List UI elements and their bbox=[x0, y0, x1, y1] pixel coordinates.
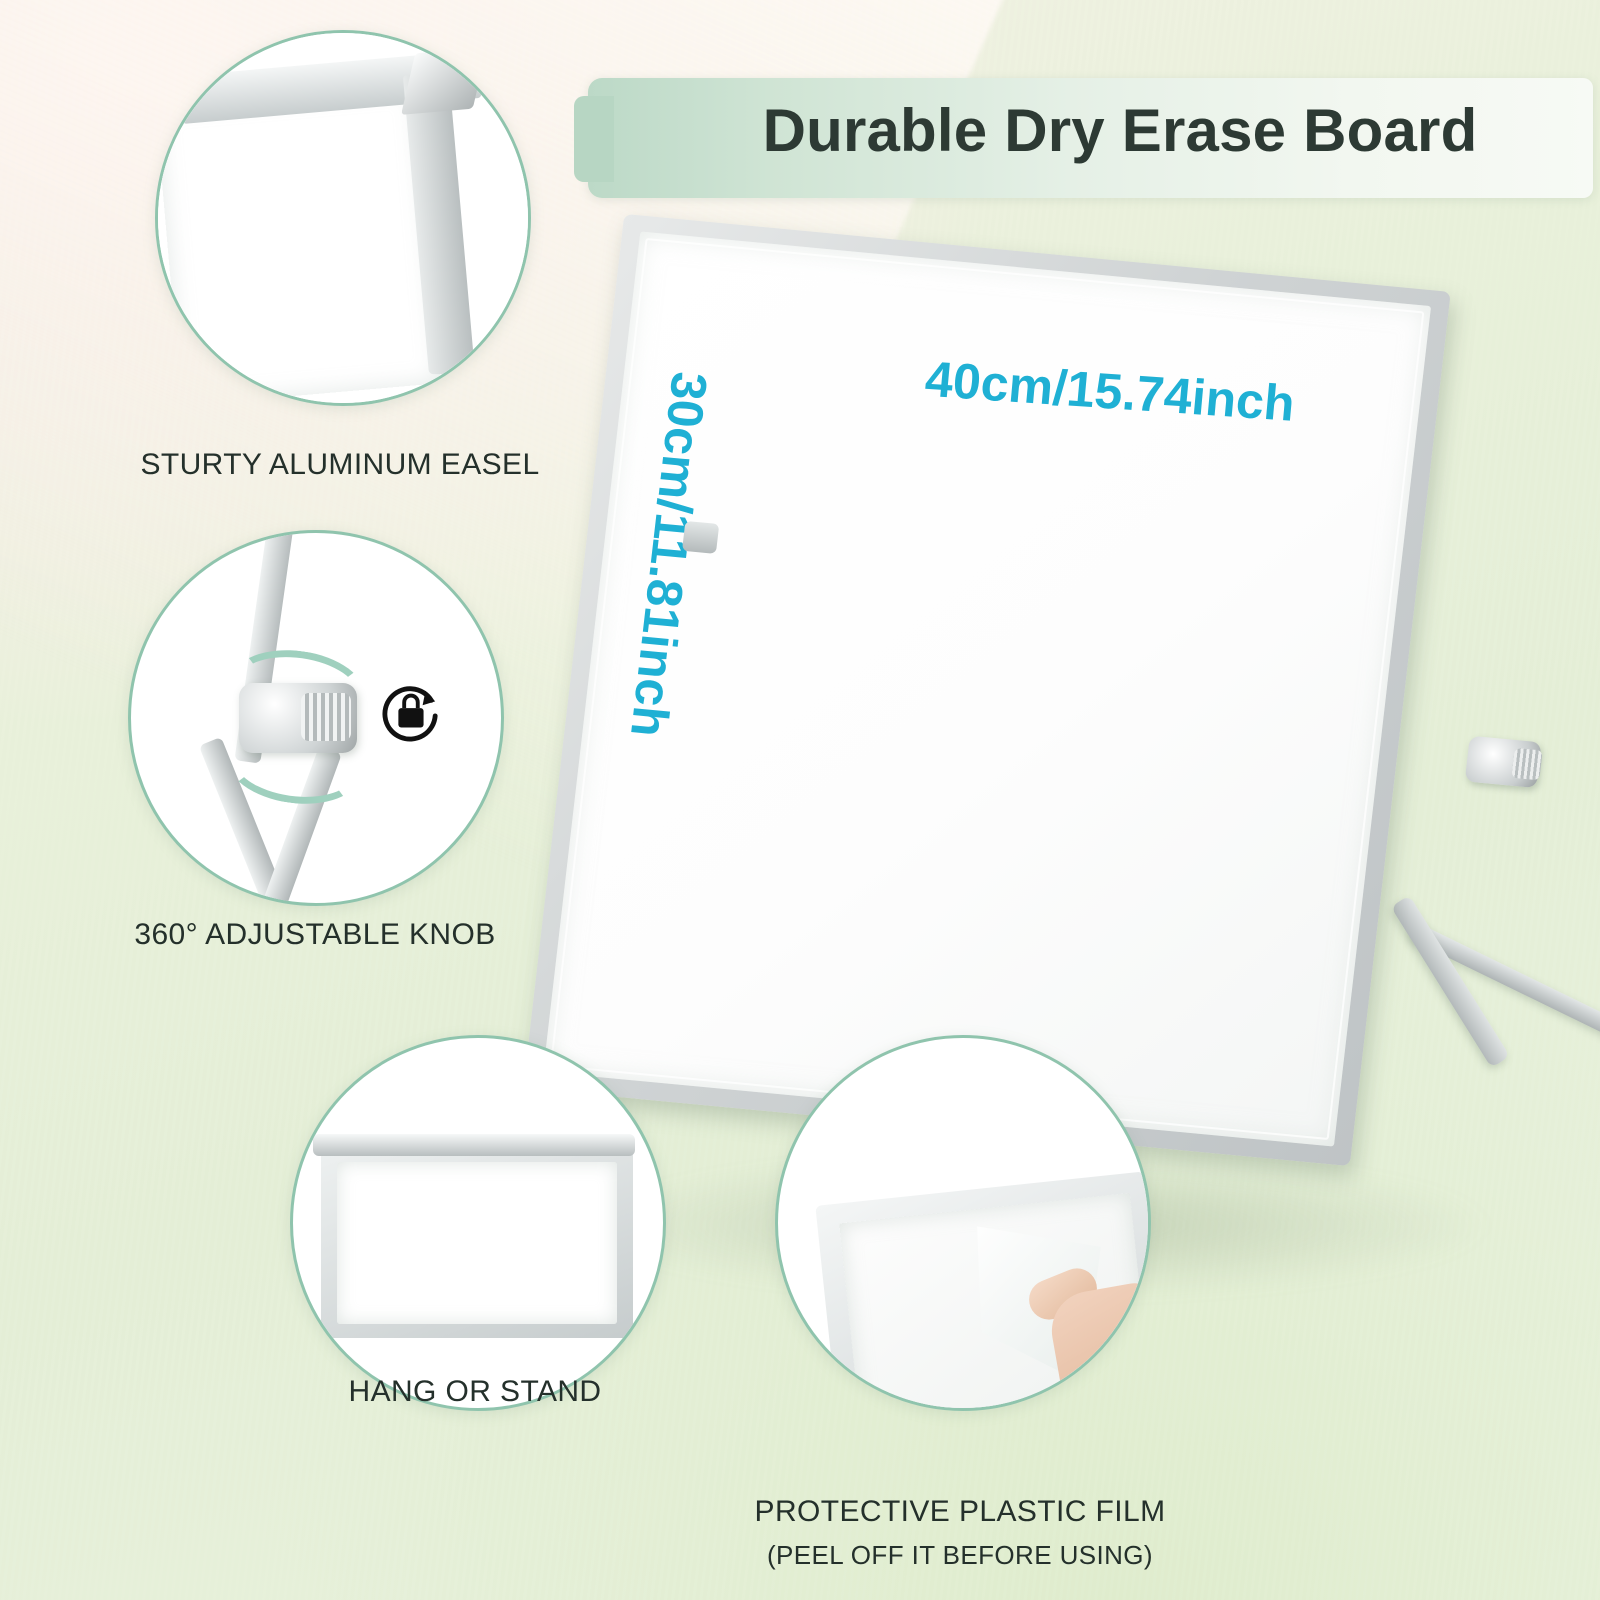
callout-caption-protective-film: PROTECTIVE PLASTIC FILM bbox=[660, 1495, 1260, 1529]
board-corner-icon bbox=[158, 33, 528, 403]
callout-caption-adjustable-knob: 360° ADJUSTABLE KNOB bbox=[30, 918, 600, 952]
page-title: Durable Dry Erase Board bbox=[640, 96, 1600, 165]
rotation-knob-icon bbox=[131, 533, 501, 903]
callout-subcaption-protective-film: (PEEL OFF IT BEFORE USING) bbox=[660, 1540, 1260, 1571]
callout-caption-hang-or-stand: HANG OR STAND bbox=[240, 1375, 710, 1409]
easel-leg-front bbox=[1391, 895, 1510, 1068]
callout-adjustable-knob bbox=[128, 530, 504, 906]
callout-caption-aluminum-easel: STURTY ALUMINUM EASEL bbox=[60, 448, 620, 482]
banner-tail bbox=[574, 96, 614, 182]
right-adjust-knob bbox=[1465, 736, 1542, 788]
flat-board-icon bbox=[293, 1038, 663, 1408]
whiteboard-frame: 40cm/15.74inch 30cm/11.81inch bbox=[523, 214, 1451, 1166]
left-hinge bbox=[682, 521, 719, 554]
product-infographic: Durable Dry Erase Board 40cm/15.74inch 3… bbox=[0, 0, 1600, 1600]
whiteboard-surface: 40cm/15.74inch 30cm/11.81inch bbox=[543, 231, 1431, 1146]
peeling-film-icon bbox=[778, 1038, 1148, 1408]
lock-icon bbox=[379, 681, 441, 743]
callout-aluminum-easel bbox=[155, 30, 531, 406]
callout-protective-film bbox=[775, 1035, 1151, 1411]
callout-hang-or-stand bbox=[290, 1035, 666, 1411]
